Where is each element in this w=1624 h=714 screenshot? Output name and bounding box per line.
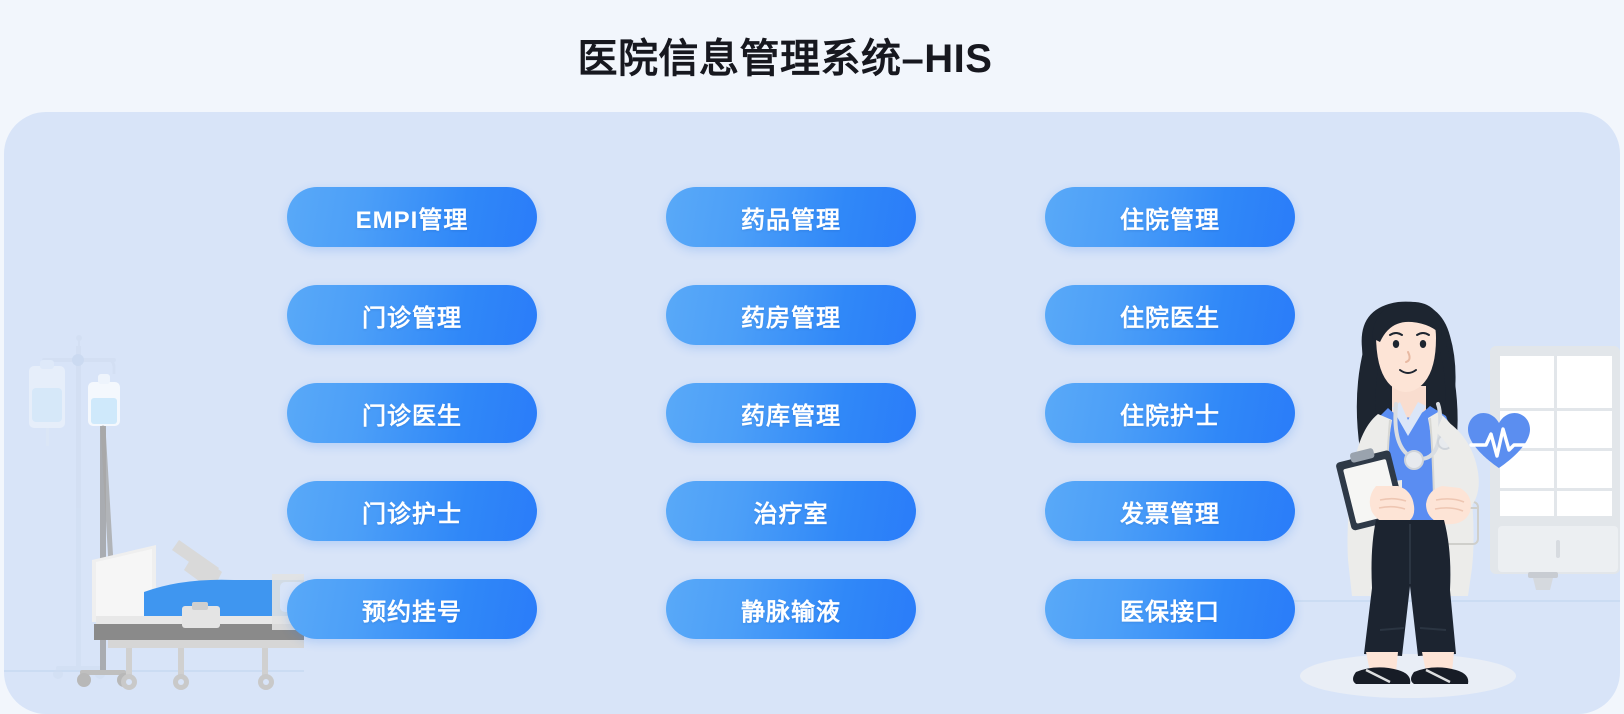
menu-button-drug-warehouse-management[interactable]: 药库管理 bbox=[666, 383, 916, 443]
doctor-with-clipboard-illustration bbox=[1280, 290, 1620, 714]
menu-button-invoice-management[interactable]: 发票管理 bbox=[1045, 481, 1295, 541]
menu-button-drug-management[interactable]: 药品管理 bbox=[666, 187, 916, 247]
menu-panel: EMPI管理 门诊管理 门诊医生 门诊护士 预约挂号 药品管理 药房管理 药库管… bbox=[4, 112, 1620, 714]
menu-button-outpatient-doctor[interactable]: 门诊医生 bbox=[287, 383, 537, 443]
page-title: 医院信息管理系统–HIS bbox=[0, 33, 1570, 85]
hospital-bed-iv-stand-illustration bbox=[4, 330, 304, 714]
menu-button-appointment-registration[interactable]: 预约挂号 bbox=[287, 579, 537, 639]
menu-button-intravenous-infusion[interactable]: 静脉输液 bbox=[666, 579, 916, 639]
menu-button-treatment-room[interactable]: 治疗室 bbox=[666, 481, 916, 541]
inpatient-column: 住院管理 住院医生 住院护士 发票管理 医保接口 bbox=[1045, 187, 1295, 639]
menu-button-empi-management[interactable]: EMPI管理 bbox=[287, 187, 537, 247]
menu-button-medical-insurance-interface[interactable]: 医保接口 bbox=[1045, 579, 1295, 639]
menu-button-outpatient-nurse[interactable]: 门诊护士 bbox=[287, 481, 537, 541]
menu-button-inpatient-nurse[interactable]: 住院护士 bbox=[1045, 383, 1295, 443]
menu-button-outpatient-management[interactable]: 门诊管理 bbox=[287, 285, 537, 345]
menu-button-inpatient-doctor[interactable]: 住院医生 bbox=[1045, 285, 1295, 345]
outpatient-column: EMPI管理 门诊管理 门诊医生 门诊护士 预约挂号 bbox=[287, 187, 537, 639]
menu-button-inpatient-management[interactable]: 住院管理 bbox=[1045, 187, 1295, 247]
pharmacy-column: 药品管理 药房管理 药库管理 治疗室 静脉输液 bbox=[666, 187, 916, 639]
menu-button-pharmacy-management[interactable]: 药房管理 bbox=[666, 285, 916, 345]
heartbeat-heart-icon bbox=[1466, 412, 1532, 470]
his-dashboard-screen: 医院信息管理系统–HIS bbox=[0, 0, 1624, 714]
